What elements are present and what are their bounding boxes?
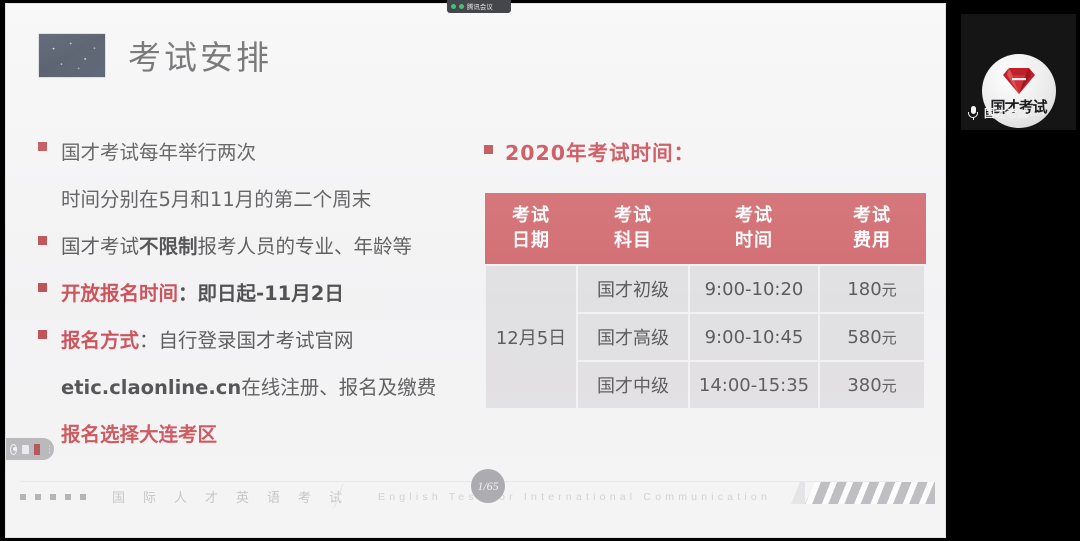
- bullet-label-highlight: 开放报名时间: [61, 282, 178, 305]
- cell-subject: 国才高级: [577, 313, 689, 361]
- fee-amount: 580: [847, 327, 881, 348]
- list-item: 国才考试不限制报考人员的专业、年龄等: [38, 226, 478, 267]
- presentation-slide: 考试安排 国才考试每年举行两次 时间分别在5月和11月的第二个周末 国才考试不限…: [5, 3, 946, 538]
- page-title: 考试安排: [128, 31, 272, 79]
- footer-stripe-edge: [779, 482, 805, 504]
- page-indicator: 1/65: [471, 469, 505, 503]
- footer-dots-icon: [20, 494, 86, 500]
- cell-fee: 180元: [819, 265, 925, 313]
- list-item: 时间分别在5月和11月的第二个周末: [38, 179, 478, 220]
- meeting-control-pill[interactable]: ⋮: [5, 438, 54, 460]
- fee-currency: 元: [882, 377, 897, 395]
- header-line-2: 日期: [486, 228, 577, 253]
- stop-share-icon[interactable]: [34, 444, 40, 455]
- participant-name: 国才考试-···: [984, 105, 1045, 121]
- column-header-fee: 考试 费用: [819, 194, 925, 266]
- registration-url: etic.claonline.cn: [61, 376, 241, 399]
- slide-footer: 国际人才英语考试 English Test for International …: [6, 481, 946, 511]
- cell-exam-date: 12月5日: [485, 265, 577, 409]
- header-line-1: 考试: [820, 203, 925, 228]
- list-item: etic.claonline.cn在线注册、报名及缴费: [38, 367, 478, 408]
- square-bullet-icon: [38, 142, 47, 151]
- list-item: 报名方式：自行登录国才考试官网: [38, 320, 478, 361]
- bullet-subtext: 时间分别在5月和11月的第二个周末: [61, 179, 371, 220]
- bullet-label-highlight: 报名方式: [61, 329, 139, 352]
- fee-amount: 180: [847, 279, 881, 300]
- schedule-heading-text: 2020年考试时间：: [505, 136, 695, 166]
- footer-cn-text: 国际人才英语考试: [112, 487, 360, 506]
- fee-currency: 元: [882, 329, 897, 347]
- cell-time: 9:00-10:20: [689, 265, 819, 313]
- header-line-2: 时间: [690, 228, 819, 253]
- recording-dot-secondary-icon: [459, 4, 464, 9]
- cell-subject: 国才初级: [577, 265, 689, 313]
- slide-title-row: 考试安排: [38, 31, 272, 79]
- right-schedule-column: 2020年考试时间： 考试 日期 考试 科目: [484, 136, 924, 410]
- microphone-icon[interactable]: [967, 106, 980, 121]
- bullet-text: 报名方式：自行登录国才考试官网: [61, 320, 354, 361]
- exam-schedule-table: 考试 日期 考试 科目 考试 时间 考试 费用: [484, 193, 926, 410]
- footer-en-text: English Test for International Communica…: [378, 491, 771, 503]
- table-row: 12月5日 国才初级 9:00-10:20 180元: [485, 265, 925, 313]
- footer-divider: [20, 481, 900, 482]
- bullet-value: ：即日起-11月2日: [178, 282, 344, 305]
- screen-share-view: 考试安排 国才考试每年举行两次 时间分别在5月和11月的第二个周末 国才考试不限…: [0, 0, 1080, 541]
- list-item: 报名选择大连考区: [38, 414, 478, 455]
- header-line-2: 费用: [820, 228, 925, 253]
- column-header-time: 考试 时间: [689, 194, 819, 266]
- bullet-text: 国才考试每年举行两次: [61, 132, 256, 173]
- column-header-date: 考试 日期: [485, 194, 577, 266]
- cell-time: 14:00-15:35: [689, 361, 819, 409]
- list-item: 国才考试每年举行两次: [38, 132, 478, 173]
- more-dots-icon[interactable]: ⋮: [45, 446, 54, 452]
- header-line-1: 考试: [486, 203, 577, 228]
- square-bullet-icon: [38, 236, 47, 245]
- bullet-text-post: 报考人员的专业、年龄等: [198, 235, 413, 258]
- cell-fee: 380元: [819, 361, 925, 409]
- starfield-badge-icon: [38, 33, 106, 78]
- cell-fee: 580元: [819, 313, 925, 361]
- header-line-1: 考试: [690, 203, 819, 228]
- diamond-logo-icon: [999, 66, 1039, 96]
- bullet-value: ：自行登录国才考试官网: [139, 329, 354, 352]
- square-bullet-icon: [38, 330, 47, 339]
- cell-time: 9:00-10:45: [689, 313, 819, 361]
- left-bullet-list: 国才考试每年举行两次 时间分别在5月和11月的第二个周末 国才考试不限制报考人员…: [38, 132, 478, 461]
- square-bullet-icon: [38, 283, 47, 292]
- table-header-row: 考试 日期 考试 科目 考试 时间 考试 费用: [485, 194, 925, 266]
- square-bullet-icon: [484, 145, 493, 154]
- column-header-subject: 考试 科目: [577, 194, 689, 266]
- registration-url-suffix: 在线注册、报名及缴费: [241, 376, 436, 399]
- footer-stripes-decoration: [805, 482, 935, 504]
- region-note: 报名选择大连考区: [61, 423, 217, 446]
- participant-name-bar: 国才考试-···: [961, 103, 1076, 123]
- bullet-text-pre: 国才考试: [61, 235, 139, 258]
- annotation-icon[interactable]: [22, 445, 29, 454]
- footer-content: 国际人才英语考试 English Test for International …: [16, 487, 771, 506]
- list-item: 开放报名时间：即日起-11月2日: [38, 273, 478, 314]
- header-line-1: 考试: [578, 203, 689, 228]
- bullet-text: 开放报名时间：即日起-11月2日: [61, 273, 344, 314]
- fee-currency: 元: [882, 281, 897, 299]
- header-line-2: 科目: [578, 228, 689, 253]
- fee-amount: 380: [847, 375, 881, 396]
- bullet-text: 国才考试不限制报考人员的专业、年龄等: [61, 226, 412, 267]
- recording-label: 腾讯会议: [467, 2, 493, 11]
- recording-dot-icon: [451, 4, 456, 9]
- bullet-highlight-note: 报名选择大连考区: [61, 414, 217, 455]
- bullet-text-emphasis: 不限制: [139, 235, 198, 258]
- bullet-subtext: etic.claonline.cn在线注册、报名及缴费: [61, 367, 436, 408]
- person-circle-icon[interactable]: [10, 444, 17, 455]
- cell-subject: 国才中级: [577, 361, 689, 409]
- recording-indicator[interactable]: 腾讯会议: [447, 0, 511, 13]
- participant-video-tile[interactable]: 国才考试 国才考试-···: [961, 14, 1076, 130]
- schedule-heading: 2020年考试时间：: [484, 136, 924, 166]
